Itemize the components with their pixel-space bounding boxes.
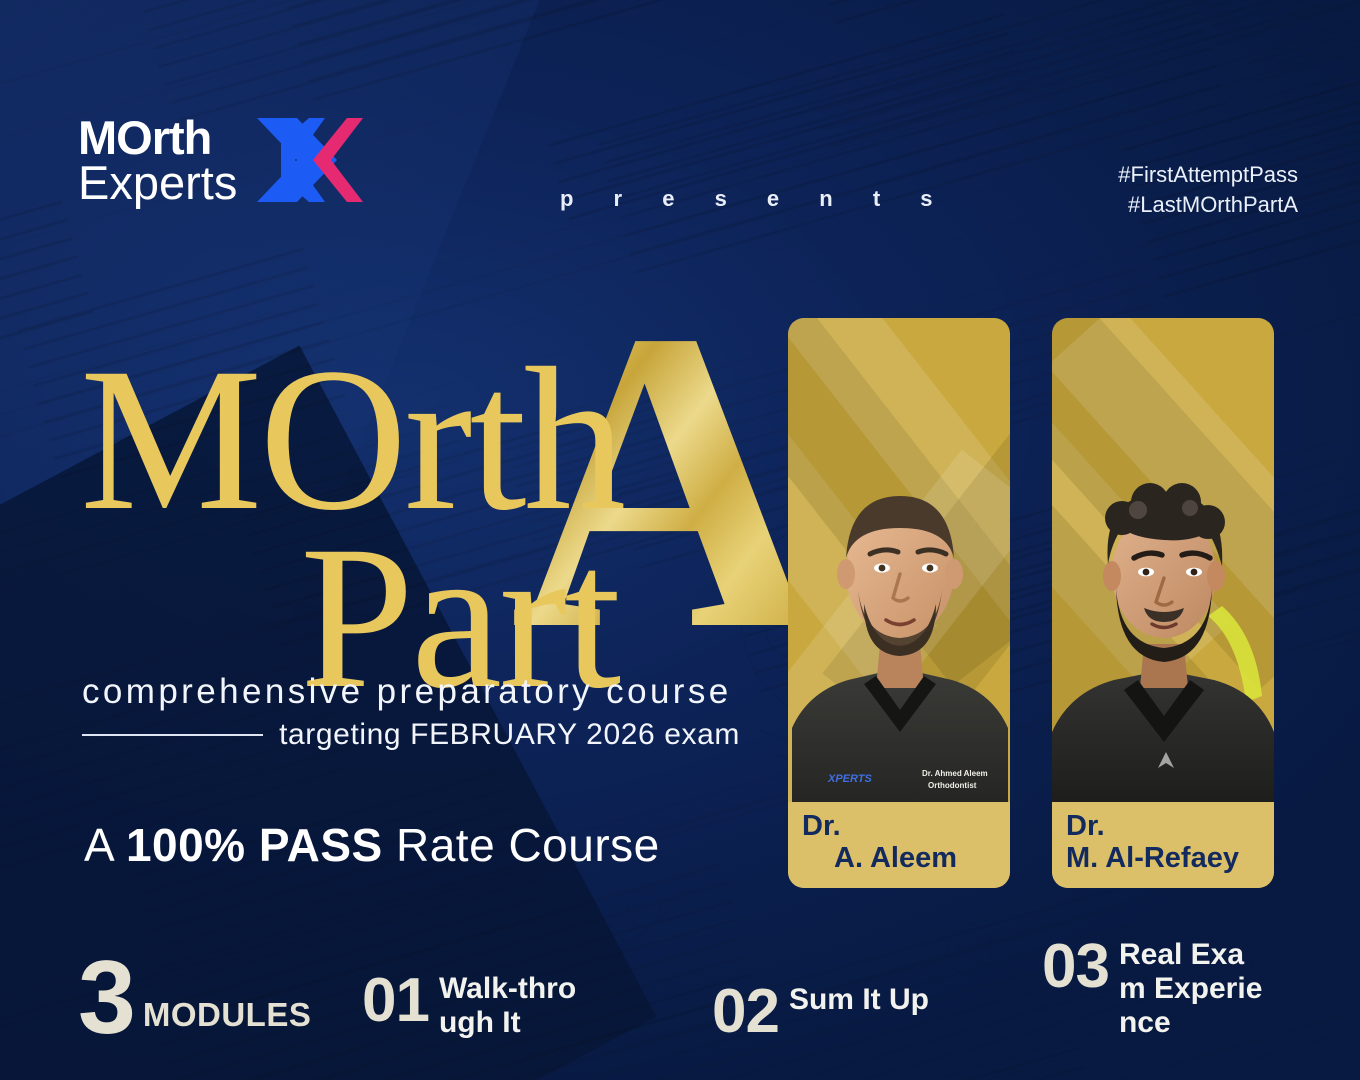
module-03-label: Real Exam Experience bbox=[1119, 938, 1269, 1040]
modules-count: 3 MODULES bbox=[78, 957, 311, 1040]
pass-rate-line: A 100% PASS Rate Course bbox=[84, 818, 660, 872]
svg-text:Dr. Ahmed Aleem: Dr. Ahmed Aleem bbox=[922, 769, 988, 778]
subtitle-exam-row: targeting FEBRUARY 2026 exam bbox=[82, 718, 740, 752]
pass-rate-emphasis: 100% PASS bbox=[126, 819, 383, 871]
module-03-number: 03 bbox=[1042, 938, 1109, 995]
poster-canvas: MOrth Experts p r e s e n t s #FirstAtte… bbox=[0, 0, 1360, 1080]
module-item-03[interactable]: 03 Real Exam Experience bbox=[1042, 938, 1269, 1040]
modules-count-label: MODULES bbox=[143, 996, 312, 1040]
brand-logo-line2: Experts bbox=[78, 160, 237, 205]
hashtags: #FirstAttemptPass #LastMOrthPartA bbox=[1118, 160, 1298, 219]
doctor-aleem-name: A. Aleem bbox=[802, 842, 996, 874]
pass-rate-prefix: A bbox=[84, 819, 126, 871]
svg-text:Orthodontist: Orthodontist bbox=[928, 781, 977, 790]
subtitle-divider-rule bbox=[82, 734, 263, 736]
module-item-01[interactable]: 01 Walk-through It bbox=[362, 972, 589, 1040]
modules-count-number: 3 bbox=[78, 957, 134, 1040]
presents-label: p r e s e n t s bbox=[560, 186, 950, 212]
doctor-alrefaey-honorific: Dr. bbox=[1066, 810, 1105, 842]
subtitle-course: comprehensive preparatory course bbox=[82, 672, 732, 712]
module-02-number: 02 bbox=[712, 983, 779, 1040]
doctor-aleem-photo: XPERTS Dr. Ahmed Aleem Orthodontist bbox=[788, 376, 1010, 816]
doctor-aleem-nameplate: Dr. A. Aleem bbox=[788, 802, 1010, 888]
doctor-aleem-honorific: Dr. bbox=[802, 810, 841, 842]
module-01-label: Walk-through It bbox=[439, 972, 589, 1040]
module-02-label: Sum It Up bbox=[789, 983, 929, 1017]
modules-strip: 3 MODULES 01 Walk-through It 02 Sum It U… bbox=[0, 934, 1360, 1054]
doctor-alrefaey-photo bbox=[1052, 376, 1274, 816]
hashtag-first-attempt-pass: #FirstAttemptPass bbox=[1118, 160, 1298, 190]
doctor-alrefaey-name: M. Al-Refaey bbox=[1066, 842, 1260, 874]
doctor-alrefaey-nameplate: Dr. M. Al-Refaey bbox=[1052, 802, 1274, 888]
hashtag-last-morth-part-a: #LastMOrthPartA bbox=[1118, 190, 1298, 220]
title-line-morth: MOrth bbox=[80, 352, 623, 528]
module-01-number: 01 bbox=[362, 972, 429, 1029]
svg-text:XPERTS: XPERTS bbox=[827, 773, 872, 785]
brand-logo-text: MOrth Experts bbox=[78, 115, 237, 205]
doctor-card-aleem[interactable]: XPERTS Dr. Ahmed Aleem Orthodontist Dr. … bbox=[788, 318, 1010, 888]
doctor-card-alrefaey[interactable]: Dr. M. Al-Refaey bbox=[1052, 318, 1274, 888]
pass-rate-suffix: Rate Course bbox=[383, 819, 660, 871]
subtitle-exam-date: targeting FEBRUARY 2026 exam bbox=[279, 718, 740, 752]
module-item-02[interactable]: 02 Sum It Up bbox=[712, 983, 929, 1040]
morth-experts-x-logo-icon bbox=[251, 112, 369, 208]
brand-logo[interactable]: MOrth Experts bbox=[78, 112, 369, 208]
